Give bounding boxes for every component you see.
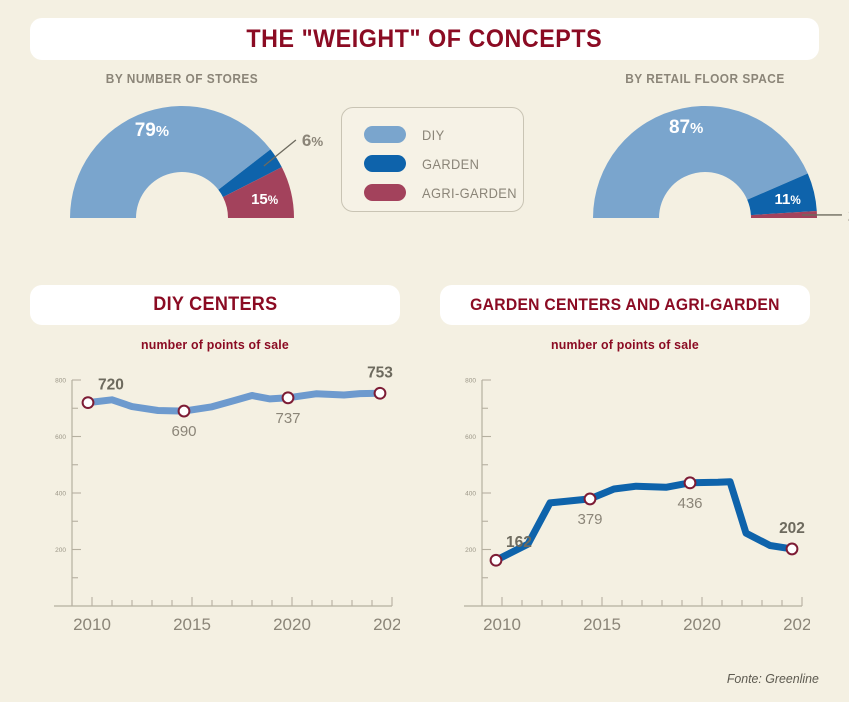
y-tick-label: 400 bbox=[465, 491, 476, 498]
legend-label-agri-garden: AGRI-GARDEN bbox=[422, 185, 517, 201]
line-plot-garden: 2004006008002010201520202025162379436202 bbox=[440, 358, 810, 658]
x-tick-label: 2010 bbox=[483, 615, 521, 634]
data-point-marker bbox=[179, 406, 190, 417]
series-line bbox=[88, 393, 380, 411]
legend-swatch-garden bbox=[364, 155, 406, 172]
page-title-banner: THE "WEIGHT" OF CONCEPTS bbox=[30, 18, 819, 60]
legend-swatch-diy bbox=[364, 126, 406, 143]
x-tick-label: 2010 bbox=[73, 615, 111, 634]
y-tick-label: 800 bbox=[55, 378, 66, 385]
y-tick-label: 600 bbox=[465, 434, 476, 441]
gauge-by-number-of-stores: BY NUMBER OF STORES 79%6%15% bbox=[22, 72, 342, 232]
line-plot-diy: 2004006008002010201520202025720690737753 bbox=[30, 358, 400, 658]
x-tick-label: 2015 bbox=[173, 615, 211, 634]
y-tick-label: 400 bbox=[55, 491, 66, 498]
x-tick-label: 2025 bbox=[783, 615, 810, 634]
data-point-marker bbox=[685, 477, 696, 488]
gauge-value-garden: 6% bbox=[302, 131, 323, 150]
gauge-caption-floorspace: BY RETAIL FLOOR SPACE bbox=[553, 72, 849, 86]
data-point-marker bbox=[491, 555, 502, 566]
chart-subtitle-diy: number of points of sale bbox=[39, 337, 391, 352]
legend-item-diy: DIY bbox=[364, 120, 523, 149]
legend: DIY GARDEN AGRI-GARDEN bbox=[341, 107, 524, 212]
legend-label-diy: DIY bbox=[422, 127, 445, 143]
y-tick-label: 800 bbox=[465, 378, 476, 385]
data-label: 379 bbox=[577, 511, 602, 528]
chart-subtitle-garden: number of points of sale bbox=[449, 337, 801, 352]
chart-title-garden: GARDEN CENTERS AND AGRI-GARDEN bbox=[470, 296, 780, 315]
data-label: 737 bbox=[275, 410, 300, 427]
gauge-value-diy: 87% bbox=[669, 117, 703, 138]
data-point-marker bbox=[585, 494, 596, 505]
y-tick-label: 200 bbox=[55, 547, 66, 554]
gauge-value-diy: 79% bbox=[135, 120, 169, 141]
chart-title-banner-diy: DIY CENTERS bbox=[30, 285, 400, 325]
gauge-by-retail-floor-space: BY RETAIL FLOOR SPACE 87%11%2% bbox=[545, 72, 849, 232]
half-donut-chart-floorspace: 87%11%2% bbox=[555, 92, 849, 232]
x-tick-label: 2020 bbox=[683, 615, 721, 634]
y-tick-label: 600 bbox=[55, 434, 66, 441]
chart-garden-centers: GARDEN CENTERS AND AGRI-GARDEN number of… bbox=[440, 285, 810, 658]
x-tick-label: 2025 bbox=[373, 615, 400, 634]
legend-item-garden: GARDEN bbox=[364, 149, 523, 178]
chart-title-diy: DIY CENTERS bbox=[153, 294, 277, 316]
half-donut-chart-stores: 79%6%15% bbox=[32, 92, 332, 232]
page-title: THE "WEIGHT" OF CONCEPTS bbox=[247, 25, 603, 54]
infographic-root: THE "WEIGHT" OF CONCEPTS BY NUMBER OF ST… bbox=[0, 0, 849, 702]
series-line bbox=[496, 482, 792, 561]
source-note: Fonte: Greenline bbox=[727, 671, 819, 686]
data-point-marker bbox=[787, 544, 798, 555]
data-label: 436 bbox=[677, 495, 702, 512]
gauge-caption-stores: BY NUMBER OF STORES bbox=[30, 72, 334, 86]
data-label: 720 bbox=[98, 377, 124, 394]
data-point-marker bbox=[283, 392, 294, 403]
chart-title-banner-garden: GARDEN CENTERS AND AGRI-GARDEN bbox=[440, 285, 810, 325]
x-tick-label: 2015 bbox=[583, 615, 621, 634]
data-point-marker bbox=[375, 388, 386, 399]
legend-label-garden: GARDEN bbox=[422, 156, 479, 172]
legend-swatch-agri-garden bbox=[364, 184, 406, 201]
data-point-marker bbox=[83, 397, 94, 408]
chart-diy-centers: DIY CENTERS number of points of sale 200… bbox=[30, 285, 400, 658]
gauge-value-agri-garden: 15% bbox=[251, 191, 279, 208]
data-label: 202 bbox=[779, 520, 805, 537]
data-label: 162 bbox=[506, 534, 532, 551]
data-label: 753 bbox=[367, 364, 393, 381]
data-label: 690 bbox=[171, 423, 196, 440]
gauge-value-garden: 11% bbox=[775, 191, 802, 208]
y-tick-label: 200 bbox=[465, 547, 476, 554]
x-tick-label: 2020 bbox=[273, 615, 311, 634]
legend-item-agri-garden: AGRI-GARDEN bbox=[364, 178, 523, 207]
